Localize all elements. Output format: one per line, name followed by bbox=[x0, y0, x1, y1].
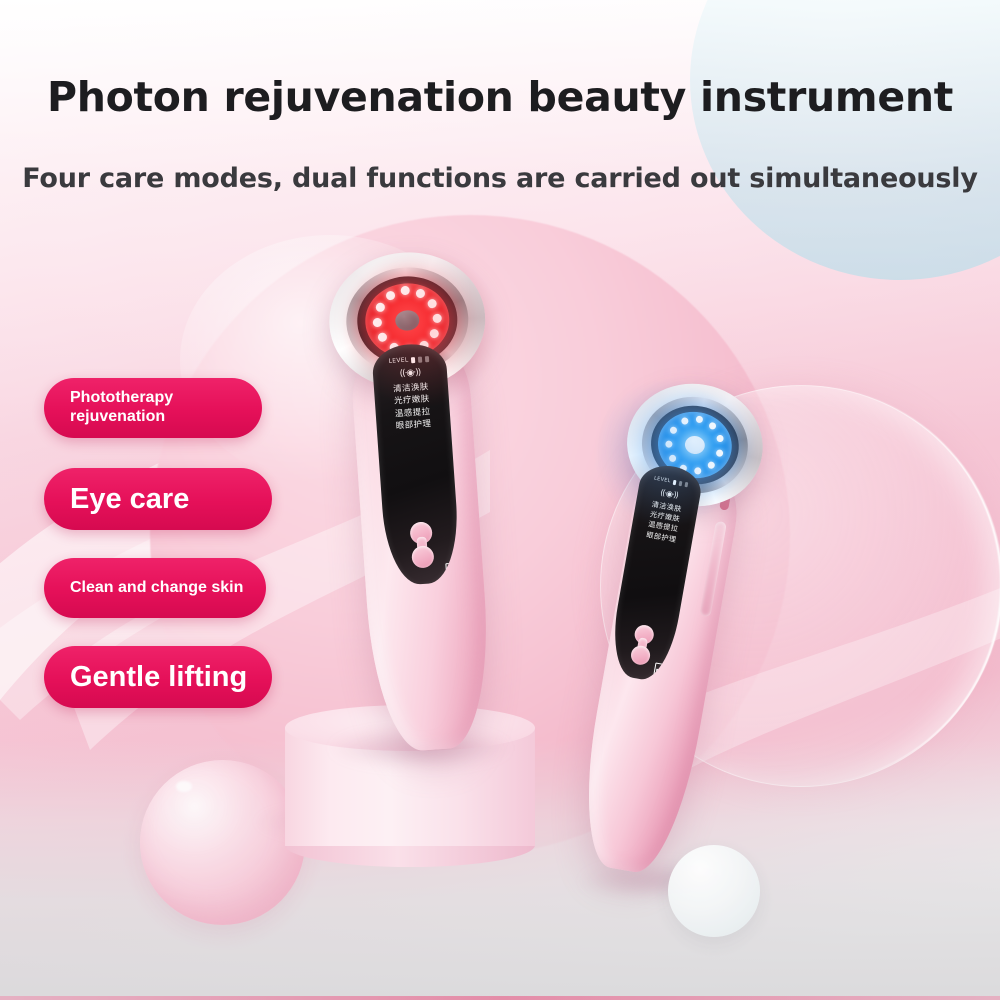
led-dot bbox=[716, 449, 724, 457]
led-dot bbox=[695, 415, 703, 423]
head-electrode-plate bbox=[683, 434, 706, 456]
feature-badge-label: Eye care bbox=[70, 485, 189, 514]
led-dot bbox=[665, 440, 673, 448]
head-electrode-plate bbox=[395, 309, 420, 331]
feature-badge-gentle-lifting[interactable]: Gentle lifting bbox=[44, 646, 272, 708]
level-bar-1 bbox=[411, 356, 415, 362]
led-dot bbox=[416, 289, 426, 299]
led-dot bbox=[400, 286, 410, 296]
feature-badge-label: Gentle lifting bbox=[70, 663, 247, 692]
level-label: LEVEL bbox=[654, 475, 672, 484]
battery-icon bbox=[445, 563, 454, 577]
decor-pink-sphere bbox=[140, 760, 305, 925]
feature-badge-label: Clean and change skin bbox=[70, 579, 243, 598]
level-bar-2 bbox=[679, 480, 683, 485]
level-bar-3 bbox=[425, 355, 429, 361]
led-dot bbox=[376, 302, 386, 312]
led-dot bbox=[378, 332, 388, 342]
led-dot bbox=[427, 299, 437, 309]
level-bar-1 bbox=[673, 479, 677, 484]
led-dot bbox=[669, 454, 677, 462]
feature-badge-clean-skin[interactable]: Clean and change skin bbox=[44, 558, 266, 618]
power-button-bottom bbox=[411, 545, 434, 568]
primary-device[interactable]: LEVEL ((·◉·)) 清洁涣肤 光疗嫩肤 温感提拉 眼部护理 bbox=[313, 246, 527, 757]
level-bar-3 bbox=[685, 481, 689, 486]
wave-emission-icon: ((·◉·)) bbox=[373, 366, 448, 381]
led-dot bbox=[386, 291, 396, 301]
feature-badge-label: Phototherapy rejuvenation bbox=[70, 389, 262, 427]
secondary-device-power-button[interactable] bbox=[628, 623, 657, 666]
led-dot bbox=[716, 434, 724, 442]
level-label: LEVEL bbox=[388, 356, 408, 364]
level-bar-2 bbox=[418, 356, 422, 362]
led-dot bbox=[429, 329, 439, 339]
level-indicator: LEVEL bbox=[372, 354, 446, 366]
feature-badge-eye-care[interactable]: Eye care bbox=[44, 468, 272, 530]
led-dot bbox=[708, 422, 716, 430]
led-dot bbox=[669, 426, 677, 434]
page-title: Photon rejuvenation beauty instrument bbox=[0, 73, 1000, 121]
decor-white-sphere bbox=[668, 845, 760, 937]
primary-device-power-button[interactable] bbox=[407, 521, 436, 569]
product-promo-image: Photon rejuvenation beauty instrument Fo… bbox=[0, 0, 1000, 1000]
led-dot bbox=[707, 461, 715, 469]
led-dot bbox=[432, 314, 442, 324]
power-button-bottom bbox=[630, 644, 652, 666]
led-dot bbox=[373, 318, 383, 328]
feature-badge-phototherapy[interactable]: Phototherapy rejuvenation bbox=[44, 378, 262, 438]
led-dot bbox=[694, 467, 702, 475]
led-dot bbox=[681, 417, 689, 425]
bottom-accent-rule bbox=[0, 996, 1000, 1000]
page-subtitle: Four care modes, dual functions are carr… bbox=[0, 163, 1000, 194]
